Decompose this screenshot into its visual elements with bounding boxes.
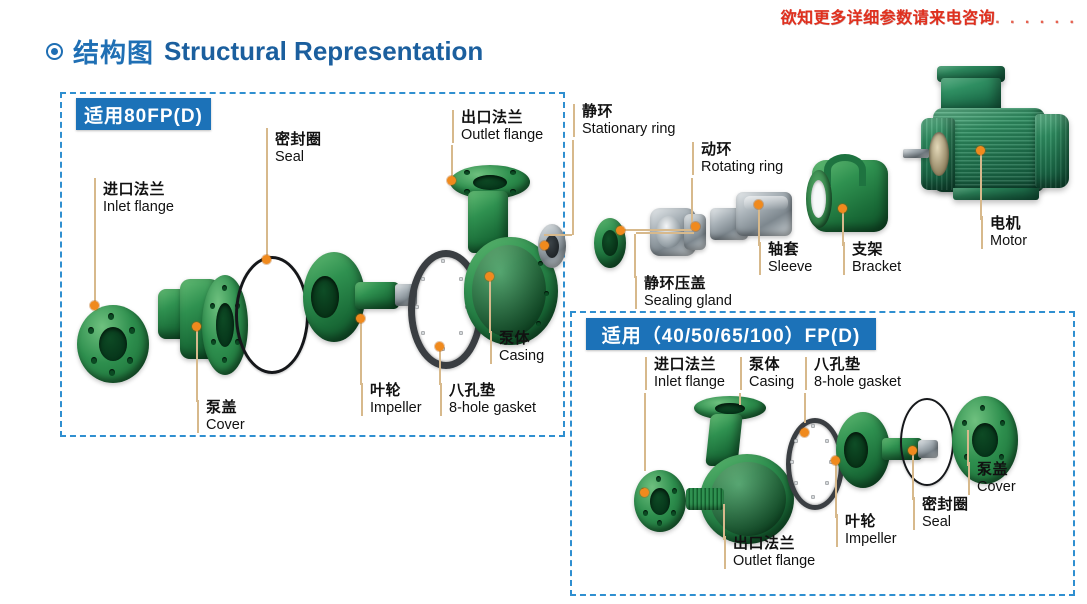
label-cn: 泵体 — [749, 357, 794, 374]
page-title-en: Structural Representation — [164, 36, 483, 67]
leader-cover — [196, 328, 198, 402]
label-en: Sealing gland — [644, 293, 732, 309]
leader-bottom-impeller — [835, 462, 837, 518]
label-sleeve: 轴套 Sleeve — [759, 242, 812, 275]
marker-rotating-ring — [616, 226, 625, 235]
label-en: Inlet flange — [654, 374, 725, 390]
label-bottom-seal: 密封圈 Seal — [913, 497, 969, 530]
leader-8hole-gasket — [439, 348, 441, 385]
part-impeller — [303, 252, 421, 344]
marker-bottom-8hole-gasket — [800, 428, 809, 437]
leader-stationary-ring-h — [544, 234, 572, 236]
label-bottom-cover: 泵盖 Cover — [968, 462, 1016, 495]
leader-rotating-ring-h — [622, 229, 692, 231]
part-sealing-gland — [650, 200, 706, 262]
label-motor: 电机 Motor — [981, 216, 1027, 249]
label-rotating-ring: 动环 Rotating ring — [692, 142, 783, 175]
page-title: 结构图 Structural Representation — [46, 33, 483, 70]
promo-banner: 欲知更多详细参数请来电咨询. . . . . . — [781, 4, 1077, 28]
marker-8hole-gasket — [435, 342, 444, 351]
marker-bracket — [838, 204, 847, 213]
label-cover: 泵盖 Cover — [197, 400, 245, 433]
marker-inlet-flange — [90, 301, 99, 310]
label-en: Seal — [275, 149, 322, 165]
label-bottom-impeller: 叶轮 Impeller — [836, 514, 897, 547]
label-cn: 泵盖 — [977, 462, 1016, 479]
label-cn: 八孔垫 — [449, 383, 536, 400]
leader-bottom-inlet-flange — [644, 393, 646, 471]
label-cn: 八孔垫 — [814, 357, 901, 374]
leader-seal — [266, 128, 268, 258]
badge-80fpd: 适用80FP(D) — [76, 98, 211, 130]
leader-bottom-casing — [739, 393, 741, 405]
part-bottom-casing — [682, 396, 800, 544]
marker-motor — [976, 146, 985, 155]
leader-impeller — [360, 320, 362, 385]
label-en: Bracket — [852, 259, 901, 275]
label-en: Seal — [922, 514, 969, 530]
label-en: Cover — [206, 417, 245, 433]
label-cn: 电机 — [990, 216, 1027, 233]
part-motor — [915, 66, 1075, 216]
label-en: Inlet flange — [103, 199, 174, 215]
leader-stationary-ring — [572, 140, 574, 235]
label-bracket: 支架 Bracket — [843, 242, 901, 275]
label-bottom-8hole-gasket: 八孔垫 8-hole gasket — [805, 357, 901, 390]
part-bottom-inlet-flange — [634, 470, 686, 532]
promo-dots: . . . . . . — [995, 10, 1077, 27]
marker-sealing-gland — [691, 222, 700, 231]
leader-sealing-gland — [634, 234, 636, 278]
page-title-cn: 结构图 — [73, 33, 154, 70]
label-inlet-flange: 进口法兰 Inlet flange — [103, 182, 174, 215]
label-cn: 支架 — [852, 242, 901, 259]
label-cn: 泵盖 — [206, 400, 245, 417]
leader-sleeve — [758, 206, 760, 246]
label-en: Rotating ring — [701, 159, 783, 175]
label-en: 8-hole gasket — [449, 400, 536, 416]
label-bottom-inlet-flange: 进口法兰 Inlet flange — [645, 357, 725, 390]
leader-casing — [489, 278, 491, 333]
label-cn: 泵体 — [499, 331, 544, 348]
label-cn: 密封圈 — [275, 132, 322, 149]
leader-sealing-gland-h — [636, 232, 694, 234]
label-impeller: 叶轮 Impeller — [361, 383, 422, 416]
marker-casing — [485, 272, 494, 281]
label-en: Outlet flange — [733, 553, 815, 569]
bullet-icon — [46, 43, 63, 60]
label-en: Impeller — [845, 531, 897, 547]
label-cn: 轴套 — [768, 242, 812, 259]
label-seal: 密封圈 Seal — [275, 132, 322, 165]
label-bottom-casing: 泵体 Casing — [740, 357, 794, 390]
label-stationary-ring: 静环 Stationary ring — [573, 104, 676, 137]
label-cn: 密封圈 — [922, 497, 969, 514]
leader-bottom-cover — [967, 430, 969, 466]
label-en: Motor — [990, 233, 1027, 249]
part-seal-oring — [235, 256, 309, 374]
leader-outlet-flange — [451, 145, 453, 178]
marker-cover — [192, 322, 201, 331]
label-en: Cover — [977, 479, 1016, 495]
leader-inlet-flange — [94, 178, 96, 304]
label-cn: 进口法兰 — [103, 182, 174, 199]
label-sealing-gland: 静环压盖 Sealing gland — [635, 276, 732, 309]
marker-bottom-inlet-flange — [640, 488, 649, 497]
label-en: Impeller — [370, 400, 422, 416]
label-casing: 泵体 Casing — [490, 331, 544, 364]
label-en: Casing — [499, 348, 544, 364]
part-bottom-seal-oring — [900, 398, 954, 486]
badge-40-50-65-100-fpd: 适用（40/50/65/100）FP(D) — [586, 318, 876, 350]
marker-seal — [262, 255, 271, 264]
leader-bottom-8hole-gasket — [804, 393, 806, 423]
label-cn: 出口法兰 — [733, 536, 815, 553]
label-cn: 静环压盖 — [644, 276, 732, 293]
label-cn: 叶轮 — [370, 383, 422, 400]
marker-bottom-impeller — [831, 456, 840, 465]
label-en: Sleeve — [768, 259, 812, 275]
leader-bracket — [842, 210, 844, 246]
marker-stationary-ring — [540, 241, 549, 250]
label-en: Outlet flange — [461, 127, 543, 143]
label-en: Casing — [749, 374, 794, 390]
label-cn: 静环 — [582, 104, 676, 121]
structural-diagram-page: 欲知更多详细参数请来电咨询. . . . . . 结构图 Structural … — [0, 0, 1087, 604]
label-bottom-outlet-flange: 出口法兰 Outlet flange — [724, 536, 815, 569]
label-cn: 出口法兰 — [461, 110, 543, 127]
leader-bottom-seal — [912, 452, 914, 500]
leader-motor — [980, 152, 982, 220]
label-8hole-gasket: 八孔垫 8-hole gasket — [440, 383, 536, 416]
marker-impeller — [356, 314, 365, 323]
marker-sleeve — [754, 200, 763, 209]
label-en: Stationary ring — [582, 121, 676, 137]
marker-bottom-seal — [908, 446, 917, 455]
leader-bottom-outlet-flange — [723, 504, 725, 540]
promo-text: 欲知更多详细参数请来电咨询 — [781, 10, 996, 27]
label-en: 8-hole gasket — [814, 374, 901, 390]
part-bracket — [806, 152, 894, 240]
label-cn: 动环 — [701, 142, 783, 159]
part-inlet-flange — [77, 305, 149, 383]
label-cn: 进口法兰 — [654, 357, 725, 374]
label-outlet-flange: 出口法兰 Outlet flange — [452, 110, 543, 143]
marker-outlet-flange — [447, 176, 456, 185]
label-cn: 叶轮 — [845, 514, 897, 531]
